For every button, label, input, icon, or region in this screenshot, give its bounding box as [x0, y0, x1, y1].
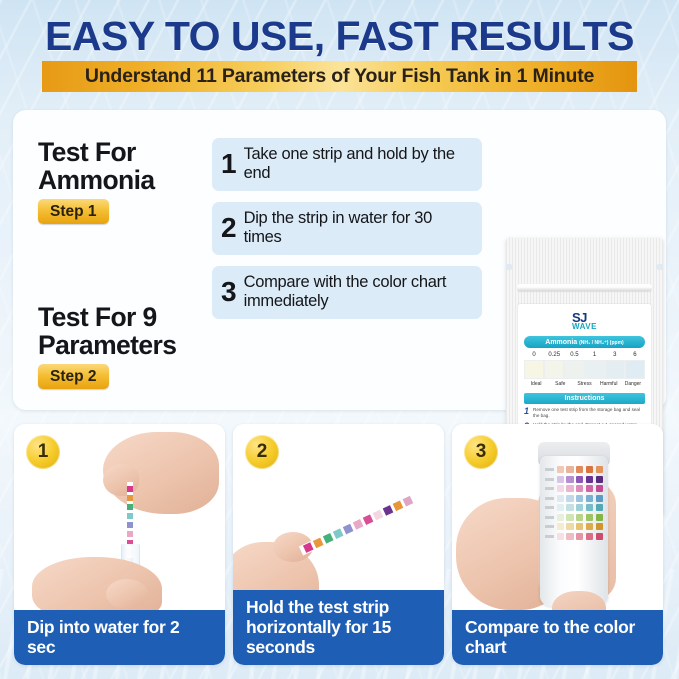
ammonia-value: 0.25	[544, 352, 564, 358]
step-card-3: 3 Compare to the color chart	[452, 424, 663, 665]
heading-test-for-parameters: Test For 9 Parameters	[38, 303, 213, 359]
bottle-chart-row	[545, 514, 603, 521]
bottle-chart-swatch	[596, 476, 603, 483]
bottle-chart-row-label	[545, 516, 554, 519]
instruction-item: 1 Remove one test strip from the storage…	[524, 407, 644, 419]
bottle-chart-swatch	[576, 523, 583, 530]
bottle-chart-swatch	[576, 485, 583, 492]
strip-pad	[127, 495, 133, 501]
bottle-chart-swatch	[596, 485, 603, 492]
step-item: 1 Take one strip and hold by the end	[212, 138, 482, 191]
bottle-chart-swatch	[586, 514, 593, 521]
bottle-chart-row-label	[545, 478, 554, 481]
bottle-chart-swatch	[566, 523, 573, 530]
bottle-chart-swatch	[557, 523, 564, 530]
strip-pad	[343, 524, 354, 535]
instructions-title: Instructions	[564, 395, 604, 402]
step-item: 3 Compare with the color chart immediate…	[212, 266, 482, 319]
bottle-chart-row-label	[545, 497, 554, 500]
instructions-header: Instructions	[524, 393, 645, 404]
ammonia-level-label-row: IdealSafeStressHarmfulDanger	[524, 381, 645, 387]
bottle-chart-swatch	[566, 476, 573, 483]
bottle-chart-swatch	[586, 533, 593, 540]
subtitle-bar: Understand 11 Parameters of Your Fish Ta…	[42, 61, 637, 92]
brand-logo: SJ WAVE	[518, 304, 651, 334]
strip-pad	[383, 505, 394, 516]
bottle-chart-swatch	[557, 495, 564, 502]
bottle-chart-swatch	[557, 504, 564, 511]
bottle-with-color-chart	[540, 456, 608, 606]
card-caption-3: Compare to the color chart	[452, 610, 663, 665]
strip-pad	[127, 531, 133, 537]
ammonia-swatch	[625, 360, 645, 379]
ammonia-level-label: Stress	[572, 381, 596, 387]
ammonia-value-row: 00.250.5136	[524, 352, 645, 358]
bottle-chart-row-label	[545, 487, 554, 490]
bottle-chart-swatch	[566, 514, 573, 521]
card-badge-1: 1	[26, 435, 60, 469]
bottle-chart-row	[545, 495, 603, 502]
strip-pad	[393, 500, 404, 511]
bottle-chart-swatch	[566, 504, 573, 511]
bottle-chart-row	[545, 523, 603, 530]
instructions-panel: Test For Ammonia Step 1 Test For 9 Param…	[13, 110, 666, 410]
strip-pad	[373, 510, 384, 521]
bottle-color-chart-grid	[545, 466, 603, 540]
packet-zip-seal	[517, 284, 652, 291]
step-number: 1	[221, 150, 236, 178]
instruction-text: Remove one test strip from the storage b…	[533, 407, 644, 419]
bottle-chart-swatch	[596, 533, 603, 540]
bottle-chart-swatch	[576, 514, 583, 521]
bottle-chart-row-label	[545, 506, 554, 509]
ammonia-value: 3	[605, 352, 625, 358]
bottle-chart-row-label	[545, 468, 554, 471]
bottle-chart-row	[545, 504, 603, 511]
bottle-chart-swatch	[586, 523, 593, 530]
bottle-chart-swatch	[576, 533, 583, 540]
bottle-chart-swatch	[596, 466, 603, 473]
bottle-chart-swatch	[596, 514, 603, 521]
test-strip	[299, 487, 430, 555]
instruction-number: 1	[524, 407, 529, 419]
ammonia-chart-title: Ammonia (NH₃ / NH₄⁺) (ppm)	[545, 339, 623, 346]
bottle-chart-swatch	[586, 504, 593, 511]
step-number: 2	[221, 214, 236, 242]
strip-pad	[363, 514, 374, 525]
brand-name-secondary: WAVE	[572, 323, 597, 331]
card-badge-3: 3	[464, 435, 498, 469]
bottle-chart-row	[545, 533, 603, 540]
ammonia-value: 6	[625, 352, 645, 358]
brand-name-primary: SJ	[572, 312, 597, 323]
bottle-chart-swatch	[586, 485, 593, 492]
step-card-row: 1 Dip into water for 2 sec 2 Hold the te…	[14, 424, 665, 665]
strip-pad	[403, 496, 414, 507]
strip-pad	[323, 533, 334, 544]
ammonia-value: 0.5	[564, 352, 584, 358]
strip-pad	[127, 522, 133, 528]
bottle-chart-swatch	[557, 485, 564, 492]
bottle-chart-swatch	[566, 466, 573, 473]
step-1-badge: Step 1	[38, 199, 109, 224]
packet-notch-left	[506, 264, 513, 270]
card-badge-2: 2	[245, 435, 279, 469]
ammonia-level-label: Harmful	[597, 381, 621, 387]
card-caption-1: Dip into water for 2 sec	[14, 610, 225, 665]
ammonia-level-label: Safe	[548, 381, 572, 387]
strip-pad	[313, 538, 324, 549]
step-text: Take one strip and hold by the end	[244, 145, 472, 183]
ammonia-swatch	[544, 360, 564, 379]
bottle-chart-swatch	[576, 466, 583, 473]
bottle-chart-row	[545, 476, 603, 483]
bottle-chart-swatch	[566, 533, 573, 540]
step-card-2: 2 Hold the test strip horizontally for 1…	[233, 424, 444, 665]
bottle-chart-swatch	[576, 476, 583, 483]
bottle-chart-row	[545, 466, 603, 473]
ammonia-value: 0	[524, 352, 544, 358]
finger-bottom	[106, 579, 148, 609]
bottle-chart-swatch	[557, 476, 564, 483]
strip-pad	[127, 513, 133, 519]
thumb-top	[103, 464, 139, 496]
bottle-chart-swatch	[596, 495, 603, 502]
step-item: 2 Dip the strip in water for 30 times	[212, 202, 482, 255]
bottle-chart-swatch	[566, 495, 573, 502]
subtitle-text: Understand 11 Parameters of Your Fish Ta…	[85, 65, 594, 88]
bottle-chart-swatch	[557, 466, 564, 473]
step-card-1: 1 Dip into water for 2 sec	[14, 424, 225, 665]
card-caption-2: Hold the test strip horizontally for 15 …	[233, 590, 444, 665]
ammonia-swatch	[524, 360, 544, 379]
strip-pad	[333, 528, 344, 539]
ammonia-swatch	[585, 360, 605, 379]
ammonia-chart-header: Ammonia (NH₃ / NH₄⁺) (ppm)	[524, 336, 645, 348]
ammonia-value: 1	[585, 352, 605, 358]
bottle-chart-row-label	[545, 535, 554, 538]
page-title: EASY TO USE, FAST RESULTS	[0, 14, 679, 58]
bottle-chart-swatch	[557, 514, 564, 521]
bottle-chart-swatch	[576, 495, 583, 502]
bottle-chart-row-label	[545, 525, 554, 528]
strip-pad	[127, 504, 133, 510]
step-number: 3	[221, 278, 236, 306]
bottle-chart-swatch	[557, 533, 564, 540]
ammonia-level-label: Danger	[621, 381, 645, 387]
ammonia-swatch	[564, 360, 584, 379]
step-text: Dip the strip in water for 30 times	[244, 209, 472, 247]
strip-pad	[303, 542, 314, 553]
step-2-badge: Step 2	[38, 364, 109, 389]
heading-test-for-ammonia: Test For Ammonia	[38, 138, 208, 194]
bottle-chart-swatch	[586, 476, 593, 483]
bottle-chart-swatch	[586, 495, 593, 502]
step-text: Compare with the color chart immediately	[244, 273, 472, 311]
bottle-chart-swatch	[566, 485, 573, 492]
strip-pad	[353, 519, 364, 530]
strip-pad	[127, 486, 133, 492]
ammonia-swatch-row	[524, 360, 645, 379]
ammonia-level-label: Ideal	[524, 381, 548, 387]
step-list: 1 Take one strip and hold by the end 2 D…	[212, 138, 482, 330]
bottle-chart-swatch	[586, 466, 593, 473]
ammonia-swatch	[605, 360, 625, 379]
bottle-chart-row	[545, 485, 603, 492]
bottle-chart-swatch	[596, 504, 603, 511]
bottle-chart-swatch	[596, 523, 603, 530]
infographic-root: EASY TO USE, FAST RESULTS Understand 11 …	[0, 0, 679, 679]
packet-notch-right	[656, 264, 663, 270]
bottle-chart-swatch	[576, 504, 583, 511]
